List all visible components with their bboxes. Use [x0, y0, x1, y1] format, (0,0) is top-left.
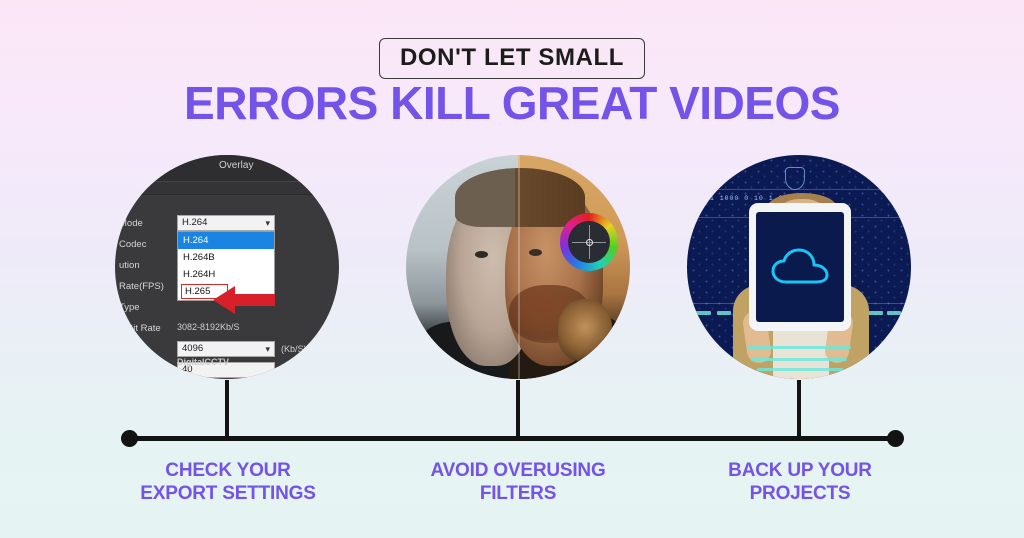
color-wheel-inner — [568, 221, 610, 263]
cctv-toolbar-divider — [115, 181, 339, 195]
select-bit-rate[interactable]: 4096 ▾ — [177, 341, 275, 357]
shield-icon — [785, 167, 805, 190]
illustration-export-settings: rol Overlay Mode H.264 ▾ Codec ution — [115, 155, 339, 379]
cctv-settings-panel: rol Overlay Mode H.264 ▾ Codec ution — [115, 155, 339, 379]
caption-filters: AVOID OVERUSING FILTERS — [368, 459, 668, 505]
caption-line-2: EXPORT SETTINGS — [78, 482, 378, 505]
chevron-down-icon: ▾ — [265, 216, 270, 230]
dropdown-option-h264b[interactable]: H.264B — [178, 249, 274, 266]
caption-export-settings: CHECK YOUR EXPORT SETTINGS — [78, 459, 378, 505]
caption-line-1: AVOID OVERUSING — [368, 459, 668, 482]
label-rate-type: Type — [119, 302, 140, 313]
caption-line-2: PROJECTS — [650, 482, 950, 505]
tablet-device — [749, 203, 851, 331]
teal-streak — [751, 358, 847, 361]
label-mode: Mode — [119, 218, 143, 229]
select-mode-value: H.264 — [182, 217, 207, 228]
caption-line-2: FILTERS — [368, 482, 668, 505]
timeline-stem-1 — [225, 380, 229, 438]
label-frame-rate: Rate(FPS) — [119, 281, 164, 292]
unit-bit-rate: (Kb/S) — [281, 344, 307, 354]
value-bitrate-range: 3082-8192Kb/S — [177, 322, 240, 332]
caption-line-1: BACK UP YOUR — [650, 459, 950, 482]
timeline-dot-end — [887, 430, 904, 447]
label-reference-bit-rate: e Bit Rate — [119, 323, 161, 334]
color-wheel-handle[interactable] — [586, 239, 593, 246]
dropdown-option-h264[interactable]: H.264 — [178, 232, 274, 249]
cctv-tab-bar: rol Overlay — [115, 155, 339, 181]
tab-control[interactable]: rol — [157, 160, 168, 171]
illustration-row: rol Overlay Mode H.264 ▾ Codec ution — [0, 155, 1024, 385]
label-resolution: ution — [119, 260, 140, 271]
headline-container: ERRORS KILL GREAT VIDEOS — [0, 78, 1024, 129]
illustration-backup: 01 1000 0 10 1 00 — [687, 155, 911, 379]
kicker-container: DON'T LET SMALL — [0, 38, 1024, 79]
tech-bar — [717, 311, 731, 315]
gear-strap — [558, 299, 612, 361]
hair — [455, 168, 585, 226]
select-mode[interactable]: H.264 ▾ — [177, 215, 275, 231]
timeline-stem-2 — [516, 380, 520, 438]
row-reference-bit-rate: e Bit Rate 3082-8192Kb/S — [115, 320, 339, 341]
hint-quality-range: (20~150) — [281, 365, 317, 375]
kicker-badge: DON'T LET SMALL — [379, 38, 645, 79]
tech-bar — [693, 311, 711, 315]
timeline-stem-3 — [797, 380, 801, 438]
cloud-backup-image: 01 1000 0 10 1 00 — [687, 155, 911, 379]
graded-portrait-image — [406, 155, 630, 379]
teal-streak — [747, 346, 851, 349]
label-codec: Codec — [119, 239, 146, 250]
chevron-down-icon: ▾ — [265, 342, 270, 356]
dropdown-option-h264h[interactable]: H.264H — [178, 266, 274, 283]
illustration-filters — [406, 155, 630, 379]
timeline-line — [128, 436, 896, 441]
tab-overlay[interactable]: Overlay — [219, 160, 253, 171]
page-title: ERRORS KILL GREAT VIDEOS — [184, 78, 840, 129]
cloud-icon — [771, 248, 829, 286]
color-wheel[interactable] — [560, 213, 618, 271]
tech-bar — [887, 311, 901, 315]
teal-streak — [757, 368, 843, 371]
tech-line — [695, 189, 903, 190]
before-after-split-line — [518, 155, 520, 379]
tablet-screen — [756, 212, 844, 322]
timeline-dot-start — [121, 430, 138, 447]
caption-line-1: CHECK YOUR — [78, 459, 378, 482]
red-arrow-annotation-icon — [213, 285, 275, 315]
caption-backup: BACK UP YOUR PROJECTS — [650, 459, 950, 505]
cctv-watermark: DigitalCCTV — [177, 357, 229, 367]
select-bit-rate-value: 4096 — [182, 343, 203, 354]
